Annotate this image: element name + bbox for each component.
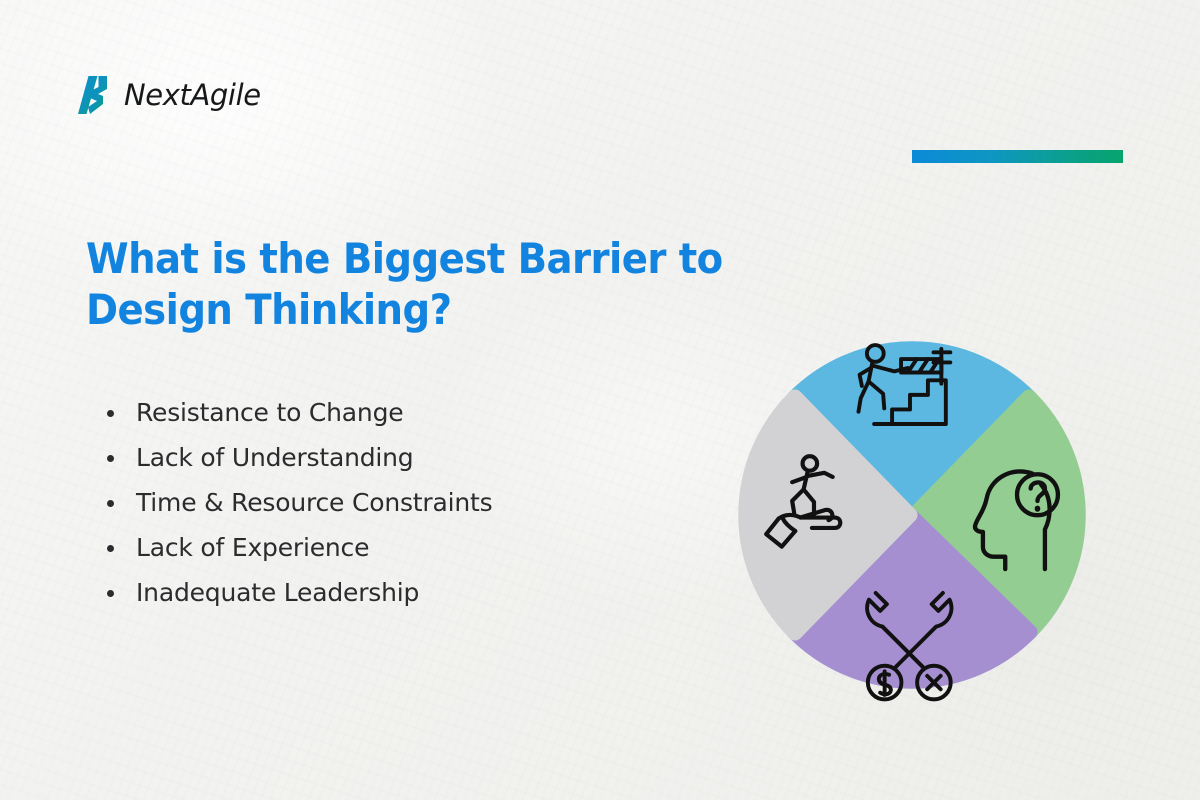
infographic-page: NextAgile What is the Biggest Barrier to… bbox=[0, 0, 1200, 800]
barrier-wheel-diagram bbox=[728, 312, 1098, 712]
list-item: Time & Resource Constraints bbox=[100, 480, 700, 525]
list-item: Lack of Experience bbox=[100, 525, 700, 570]
list-item: Inadequate Leadership bbox=[100, 570, 700, 615]
list-item: Resistance to Change bbox=[100, 390, 700, 435]
page-title: What is the Biggest Barrier to Design Th… bbox=[86, 233, 730, 335]
wheel-svg bbox=[728, 312, 1098, 712]
brand-name: NextAgile bbox=[124, 81, 261, 110]
accent-bar bbox=[912, 150, 1123, 163]
brand-logo: NextAgile bbox=[78, 74, 261, 116]
nextagile-arrow-logo-icon bbox=[78, 74, 116, 116]
barrier-list: Resistance to Change Lack of Understandi… bbox=[100, 390, 700, 615]
list-item: Lack of Understanding bbox=[100, 435, 700, 480]
